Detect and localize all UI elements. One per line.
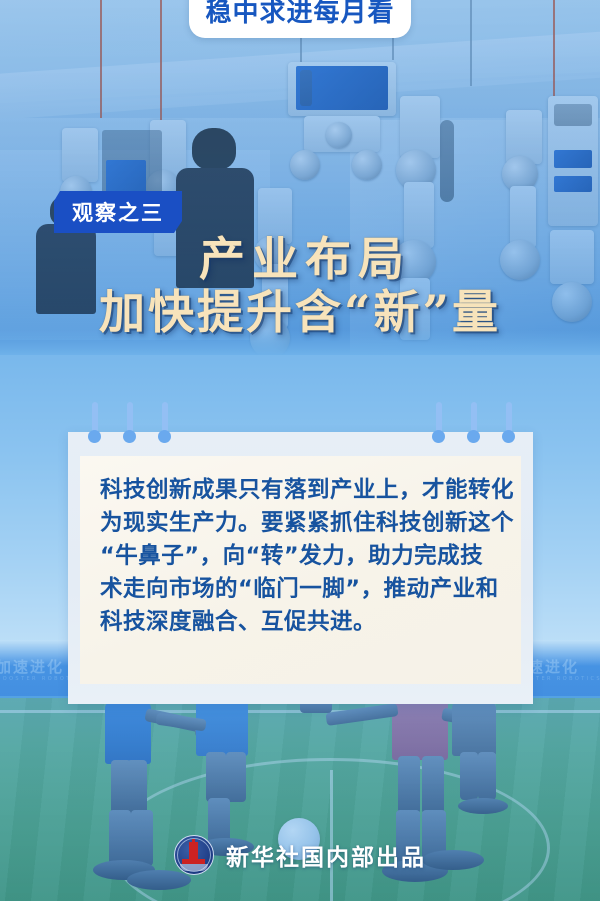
page-title-line1: 产业布局	[0, 232, 600, 286]
card-pins-left	[88, 402, 171, 448]
header-badge-label: 稳中求进每月看	[205, 0, 394, 29]
footer: 新华社国内部出品	[0, 830, 600, 880]
xinhua-logo-icon	[174, 835, 214, 875]
pin-icon	[467, 402, 480, 448]
quote-text: 科技创新成果只有落到产业上，才能转化 为现实生产力。要紧紧抓住科技创新这个 “牛…	[100, 474, 504, 639]
footer-source-label: 新华社国内部出品	[226, 838, 426, 872]
section-banner-label: 观察之三	[72, 197, 164, 227]
pin-icon	[158, 402, 171, 448]
pin-icon	[432, 402, 445, 448]
quote-line: 术走向市场的“临门一脚”，推动产业和	[100, 573, 504, 606]
quote-line: 科技深度融合、互促共进。	[100, 606, 504, 639]
page-title-line2: 加快提升含“新”量	[0, 286, 600, 338]
header-badge: 稳中求进每月看	[189, 0, 411, 38]
pin-icon	[88, 402, 101, 448]
quote-line: 为现实生产力。要紧紧抓住科技创新这个	[100, 507, 504, 540]
pin-icon	[502, 402, 515, 448]
quote-line: 科技创新成果只有落到产业上，才能转化	[100, 474, 504, 507]
card-pins-right	[432, 402, 515, 448]
quote-card: 科技创新成果只有落到产业上，才能转化 为现实生产力。要紧紧抓住科技创新这个 “牛…	[68, 432, 533, 704]
quote-line: “牛鼻子”，向“转”发力，助力完成技	[100, 540, 504, 573]
section-banner: 观察之三	[54, 191, 182, 233]
quote-card-panel: 科技创新成果只有落到产业上，才能转化 为现实生产力。要紧紧抓住科技创新这个 “牛…	[80, 456, 521, 684]
poster-root: 加速进化 BOOSTER ROBOTICS 加速进化 BOOSTER ROBOT…	[0, 0, 600, 901]
page-title: 产业布局 加快提升含“新”量	[0, 232, 600, 338]
pin-icon	[123, 402, 136, 448]
